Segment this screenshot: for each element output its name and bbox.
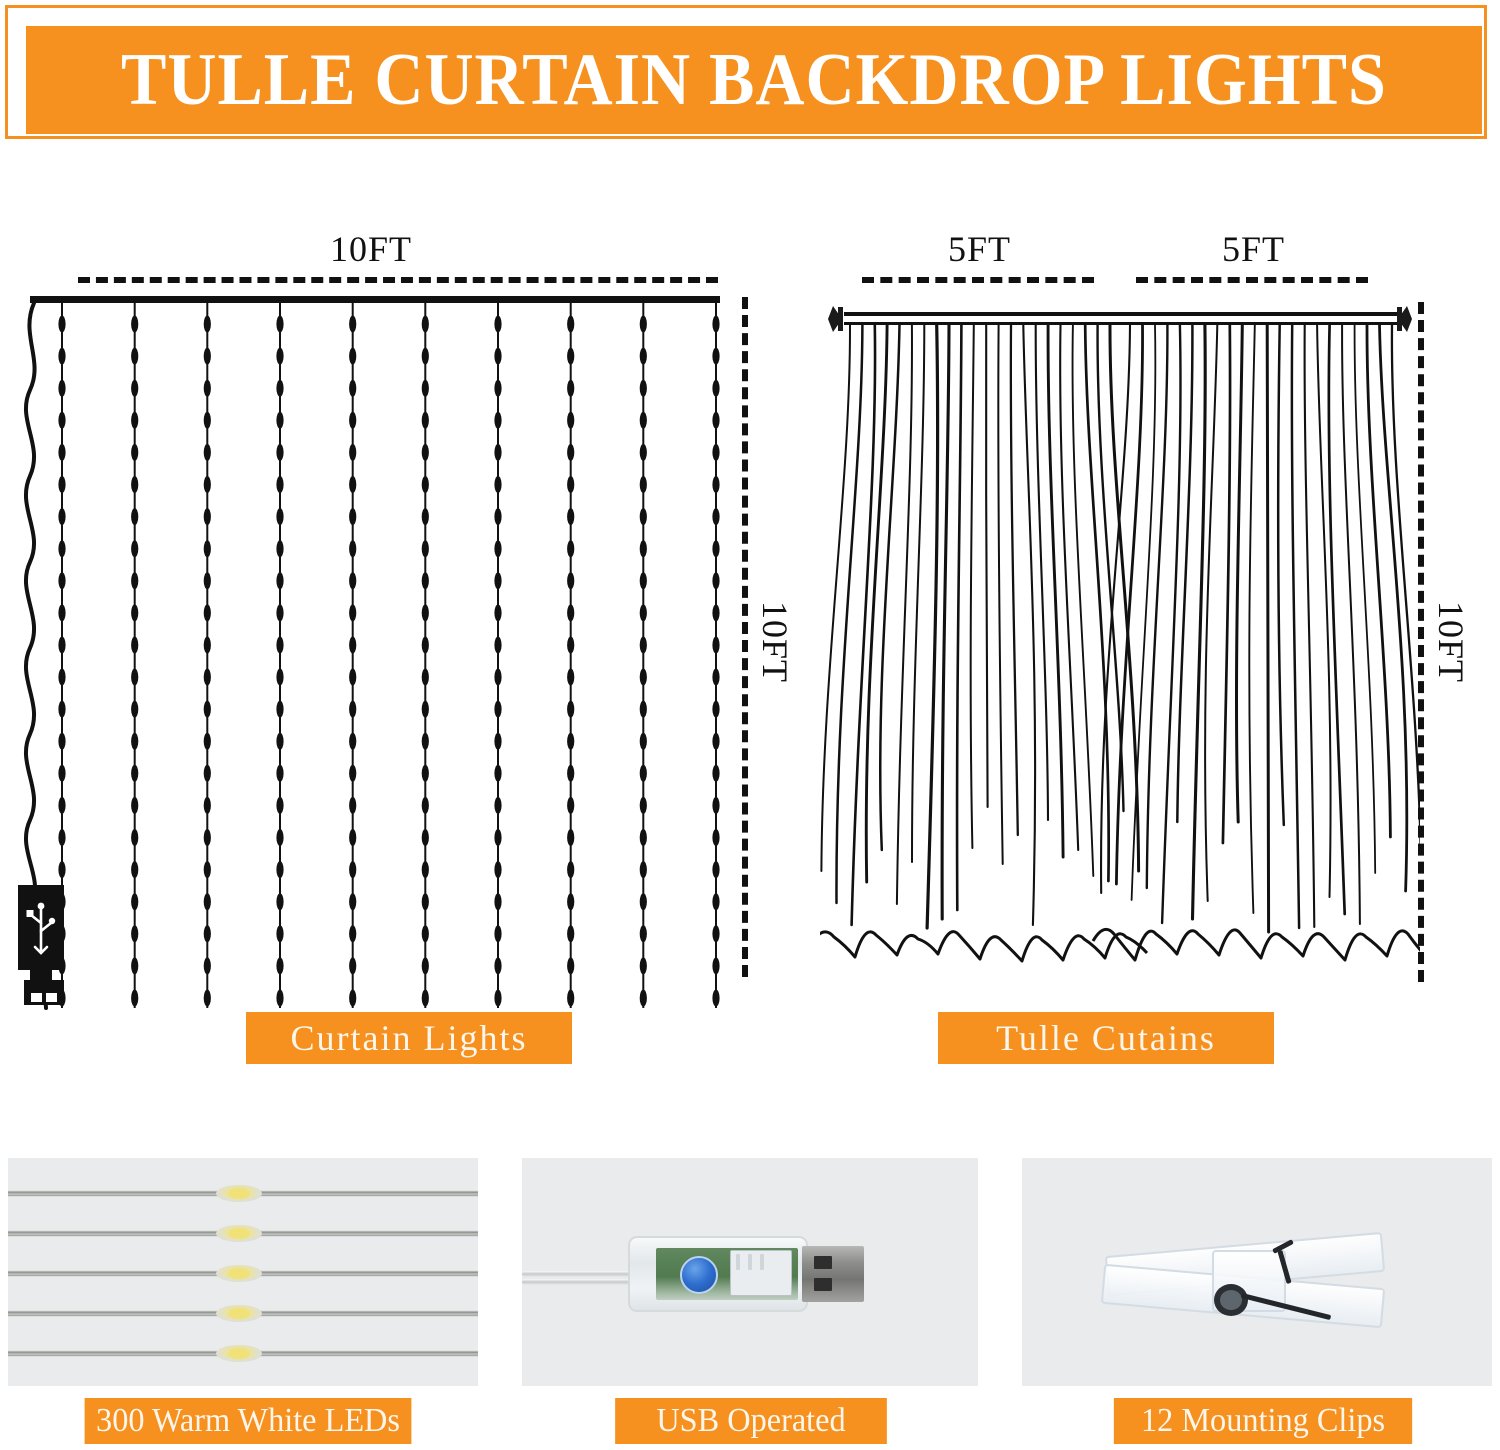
- leds-caption-badge: 300 Warm White LEDs: [85, 1398, 412, 1444]
- usb-connector: [802, 1246, 864, 1302]
- led-copper-wire-photo: [8, 1158, 478, 1386]
- tulle-width-label-right: 5FT: [1222, 228, 1285, 270]
- led-bead: [216, 1265, 262, 1282]
- usb-mode-button[interactable]: [680, 1256, 718, 1294]
- tulle-width-dimension-line-right: [1136, 277, 1368, 283]
- curtain-lights-drawing: [0, 290, 760, 1010]
- clips-caption-badge: 12 Mounting Clips: [1114, 1398, 1412, 1444]
- tulle-height-label: 10FT: [1430, 601, 1472, 681]
- header-banner-fill: TULLE CURTAIN BACKDROP LIGHTS: [26, 26, 1482, 134]
- header-banner-frame: TULLE CURTAIN BACKDROP LIGHTS: [5, 5, 1487, 139]
- led-bead: [216, 1225, 262, 1242]
- usb-resistor-2: [748, 1254, 752, 1270]
- curtain-lights-height-label: 10FT: [754, 601, 796, 681]
- tulle-width-dimension-line-left: [862, 277, 1094, 283]
- mounting-clip-photo: [1022, 1158, 1492, 1386]
- curtain-lights-width-label: 10FT: [330, 228, 412, 270]
- page-title: TULLE CURTAIN BACKDROP LIGHTS: [121, 43, 1387, 117]
- led-bead: [216, 1345, 262, 1362]
- curtain-lights-badge: Curtain Lights: [246, 1012, 572, 1064]
- usb-plug-icon: [16, 885, 76, 1010]
- curtain-lights-width-dimension-line: [78, 277, 718, 283]
- usb-resistor-3: [760, 1254, 764, 1270]
- usb-caption-badge: USB Operated: [615, 1398, 887, 1444]
- diagram-section: 10FT 10FT: [0, 150, 1500, 1100]
- usb-controller-photo: [522, 1158, 978, 1386]
- tulle-width-label-left: 5FT: [948, 228, 1011, 270]
- usb-resistor-1: [736, 1254, 740, 1270]
- tulle-curtains-badge: Tulle Cutains: [938, 1012, 1274, 1064]
- usb-connector-slot-1: [814, 1256, 832, 1269]
- led-bead: [216, 1305, 262, 1322]
- usb-connector-slot-2: [814, 1278, 832, 1291]
- tulle-curtains-drawing: [820, 295, 1420, 995]
- led-bead: [216, 1185, 262, 1202]
- clip-spring-coil: [1214, 1284, 1248, 1316]
